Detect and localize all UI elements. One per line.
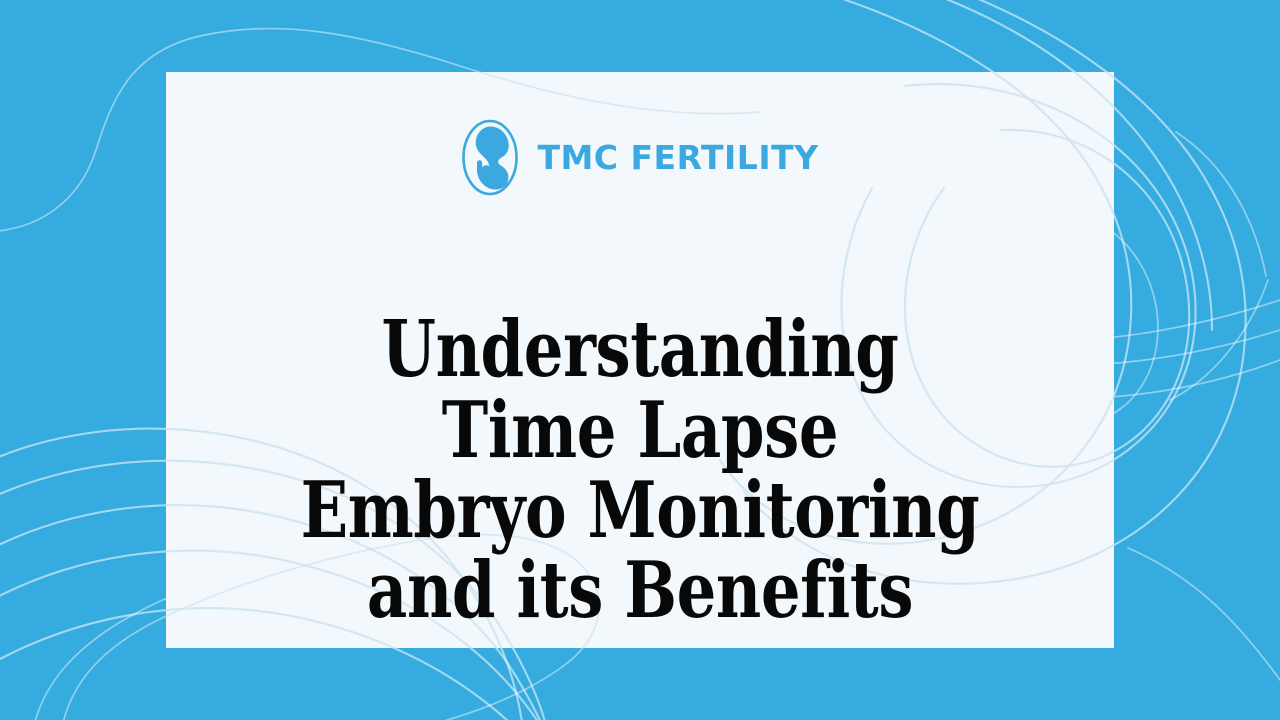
title-line-3: Embryo Monitoring	[293, 471, 987, 551]
embryo-in-oval-icon	[461, 118, 519, 197]
content-card: TMC FERTILITY Understanding Time Lapse E…	[166, 72, 1114, 648]
title-slide: TMC FERTILITY Understanding Time Lapse E…	[0, 0, 1280, 720]
title-line-4: and its Benefits	[293, 551, 987, 631]
title-line-1: Understanding	[293, 310, 987, 390]
title-line-2: Time Lapse	[293, 391, 987, 471]
brand-lockup: TMC FERTILITY	[166, 118, 1114, 197]
brand-wordmark: TMC FERTILITY	[537, 141, 818, 174]
page-title: Understanding Time Lapse Embryo Monitori…	[293, 310, 987, 631]
